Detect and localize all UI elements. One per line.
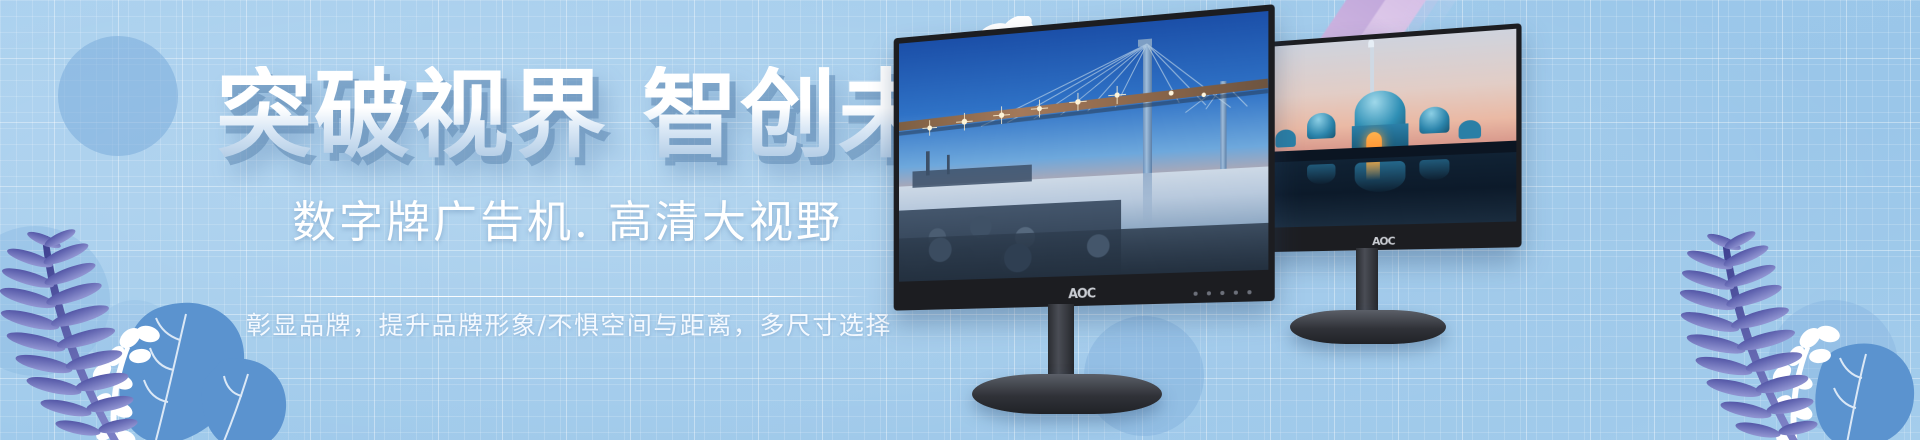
- banner-tagline: 彰显品牌，提升品牌形象/不惧空间与距离，多尺寸选择: [246, 306, 892, 342]
- decorative-circle-1: [58, 36, 178, 156]
- divider-line: [238, 296, 870, 297]
- monitor-right-base: [1290, 310, 1446, 344]
- monitor-right-logo: AOC: [1372, 235, 1394, 248]
- monitor-left-base: [972, 374, 1162, 414]
- fern-leaf-right-icon: [1640, 198, 1920, 440]
- monitor-right: AOC: [1232, 34, 1520, 250]
- monitor-left-screen: [899, 11, 1268, 282]
- monitor-left: AOC: [880, 22, 1272, 306]
- monitor-right-screen: [1245, 29, 1516, 229]
- fern-leaf-left-icon: [0, 196, 290, 440]
- monitor-left-bezel: AOC: [894, 4, 1275, 310]
- monitor-right-neck: [1356, 248, 1378, 318]
- monitor-left-logo: AOC: [1068, 286, 1095, 302]
- banner-subtitle: 数字牌广告机. 高清大视野: [292, 186, 843, 250]
- monitor-osd-buttons[interactable]: [1194, 290, 1252, 296]
- product-monitors: AOC: [880, 0, 1620, 440]
- monitor-right-bezel: AOC: [1241, 23, 1522, 252]
- promo-banner: 突破视界智创未来 数字牌广告机. 高清大视野 彰显品牌，提升品牌形象/不惧空间与…: [0, 0, 1920, 440]
- headline-segment-1: 突破视界: [216, 59, 608, 171]
